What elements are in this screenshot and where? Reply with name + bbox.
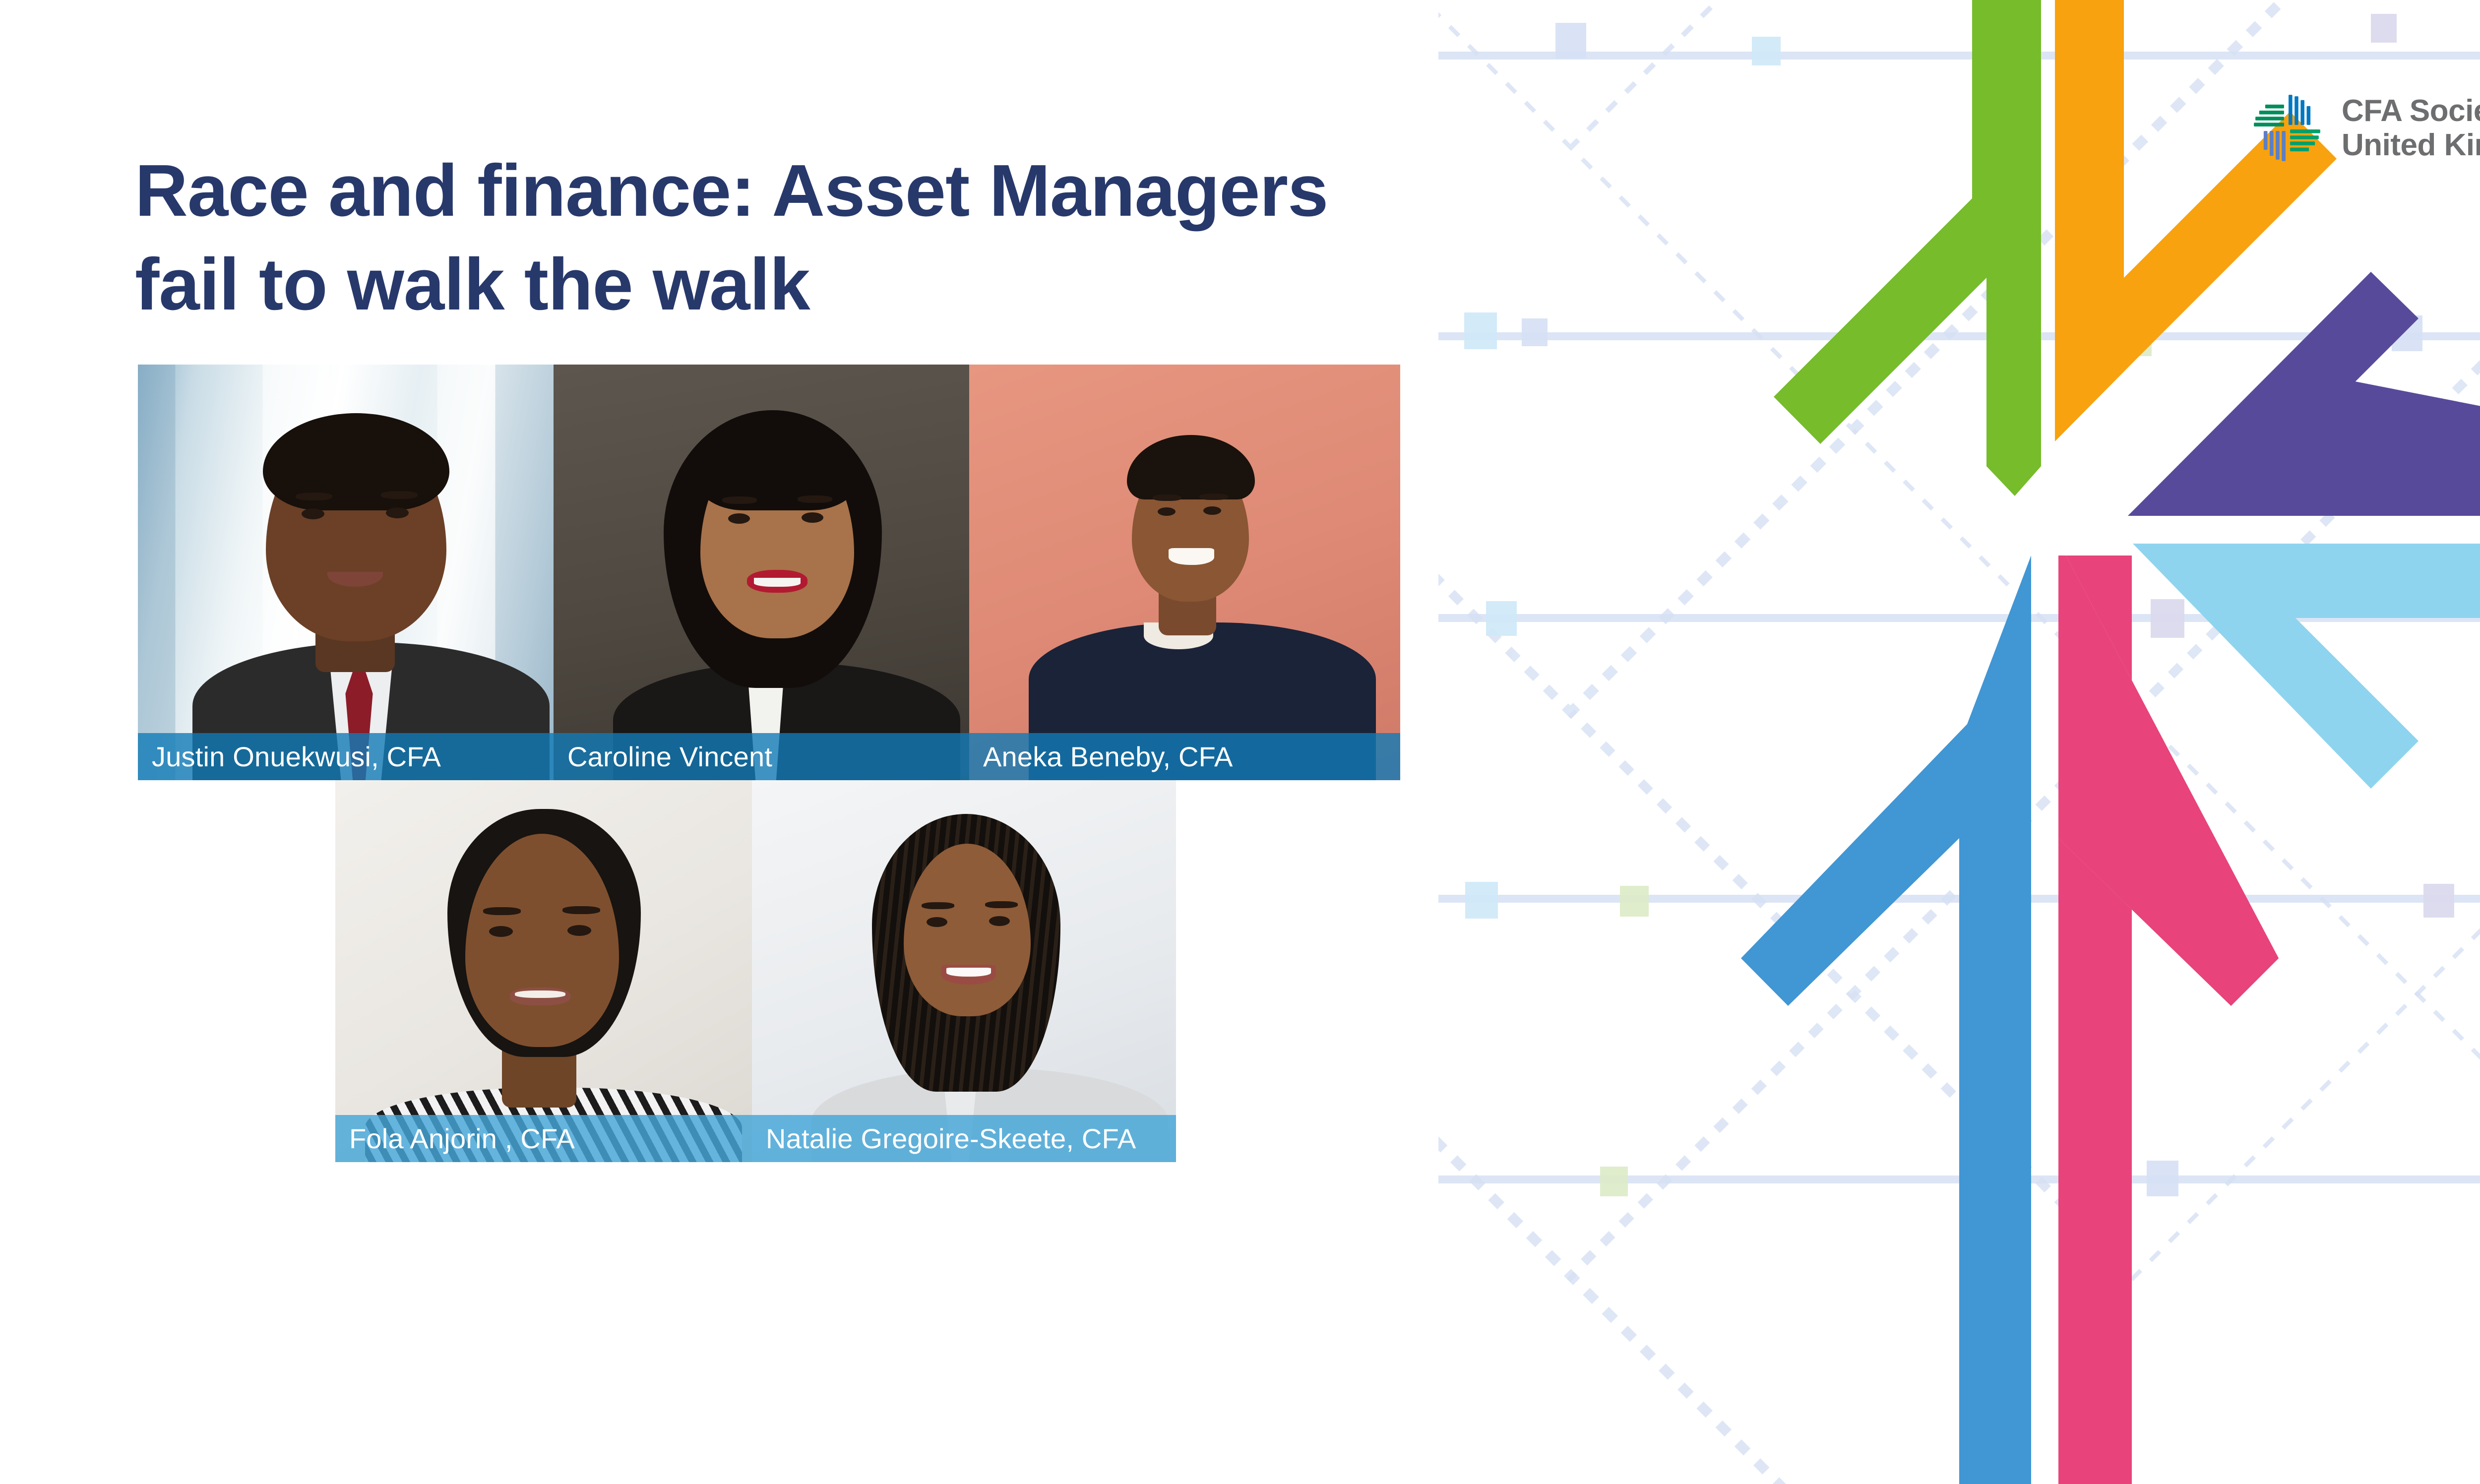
speaker-name-natalie: Natalie Gregoire-Skeete, CFA	[752, 1122, 1136, 1155]
speaker-card-natalie[interactable]: Natalie Gregoire-Skeete, CFA	[752, 780, 1176, 1162]
cfa-logo-text: CFA Society United Kingdom	[2342, 94, 2480, 163]
speaker-row-2: Fola Anjorin , CFA	[335, 780, 1176, 1162]
arrow-light-blue	[2133, 544, 2480, 789]
portrait-fola-anjorin	[335, 780, 752, 1162]
speaker-name-justin: Justin Onuekwusi, CFA	[138, 741, 441, 773]
caption-bar-caroline: Caroline Vincent	[554, 733, 969, 780]
speaker-name-fola: Fola Anjorin , CFA	[335, 1122, 575, 1155]
caption-bar-fola: Fola Anjorin , CFA	[335, 1115, 752, 1162]
caption-bar-justin: Justin Onuekwusi, CFA	[138, 733, 554, 780]
portrait-caroline-vincent	[554, 365, 969, 780]
speaker-name-caroline: Caroline Vincent	[554, 741, 772, 773]
converging-arrows-icon	[1438, 0, 2480, 1484]
arrow-green	[1774, 0, 2041, 496]
portrait-aneka-beneby	[969, 365, 1400, 780]
speaker-card-caroline[interactable]: Caroline Vincent	[554, 365, 969, 780]
page-title: Race and finance: Asset Managers fail to…	[135, 144, 1405, 332]
arrow-blue	[1741, 556, 2031, 1484]
cfa-society-uk-logo[interactable]: CFA Society United Kingdom	[2249, 90, 2480, 166]
speaker-card-justin[interactable]: Justin Onuekwusi, CFA	[138, 365, 554, 780]
right-graphic-pane: CFA Society United Kingdom	[1438, 0, 2480, 1484]
speaker-photo-grid: Justin Onuekwusi, CFA	[138, 365, 1400, 1162]
speaker-row-1: Justin Onuekwusi, CFA	[138, 365, 1400, 780]
cfa-pinwheel-icon	[2249, 90, 2325, 166]
portrait-natalie-gregoire-skeete	[752, 780, 1176, 1162]
caption-bar-aneka: Aneka Beneby, CFA	[969, 733, 1400, 780]
slide-root: Race and finance: Asset Managers fail to…	[0, 0, 2480, 1484]
left-content-pane: Race and finance: Asset Managers fail to…	[0, 0, 1438, 1484]
arrow-pink	[2058, 556, 2279, 1484]
speaker-name-aneka: Aneka Beneby, CFA	[969, 741, 1233, 773]
portrait-justin-onuekwusi	[138, 365, 554, 780]
caption-bar-natalie: Natalie Gregoire-Skeete, CFA	[752, 1115, 1176, 1162]
speaker-card-fola[interactable]: Fola Anjorin , CFA	[335, 780, 752, 1162]
speaker-card-aneka[interactable]: Aneka Beneby, CFA	[969, 365, 1400, 780]
